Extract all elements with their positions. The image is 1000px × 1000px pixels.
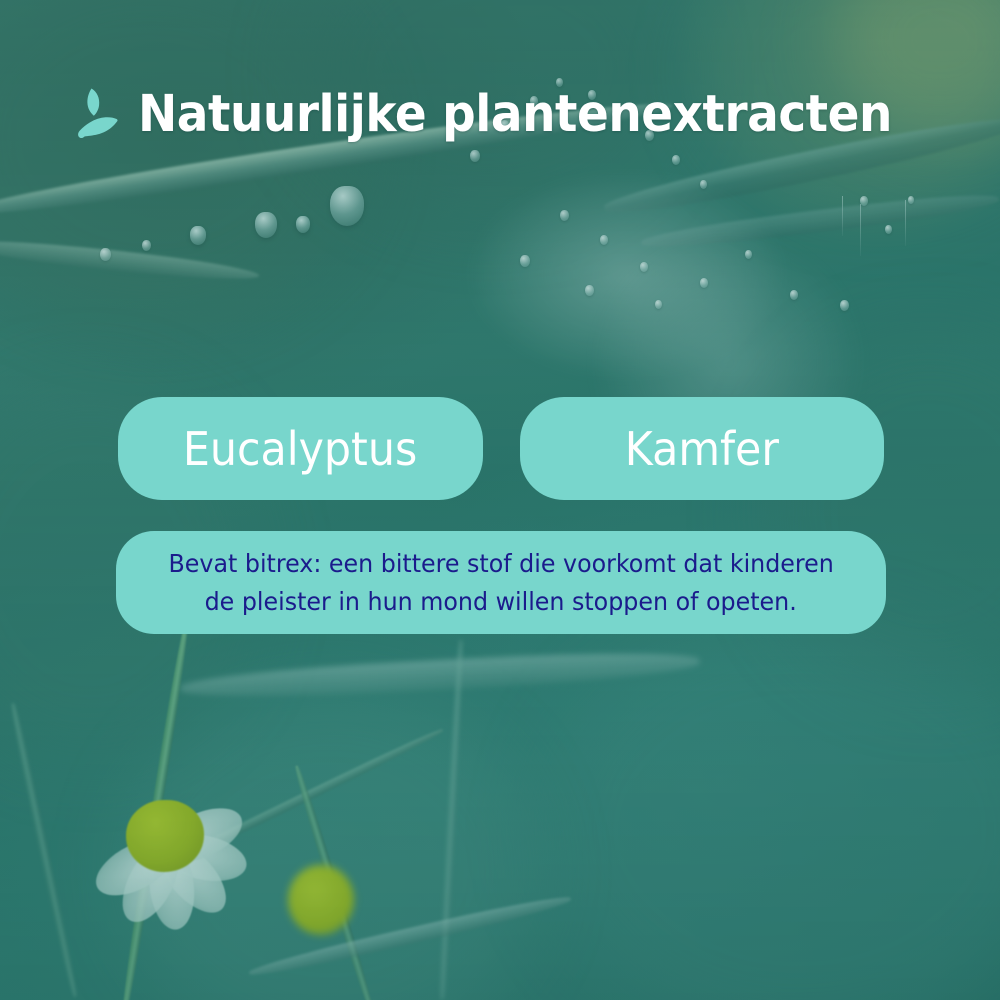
note-line-1: Bevat bitrex: een bittere stof die voork… (168, 545, 833, 583)
content-layer: Natuurlijke plantenextracten Eucalyptus … (0, 0, 1000, 1000)
promo-graphic: Natuurlijke plantenextracten Eucalyptus … (0, 0, 1000, 1000)
ingredient-pill-eucalyptus[interactable]: Eucalyptus (118, 397, 483, 500)
header: Natuurlijke plantenextracten (74, 86, 958, 144)
leaf-icon (74, 86, 120, 144)
ingredient-pill-label: Kamfer (625, 426, 779, 472)
note-line-2: de pleister in hun mond willen stoppen o… (205, 583, 797, 621)
page-title: Natuurlijke plantenextracten (138, 89, 892, 141)
bitrex-note-box: Bevat bitrex: een bittere stof die voork… (116, 531, 886, 634)
ingredient-pill-label: Eucalyptus (183, 426, 417, 472)
ingredient-pill-kamfer[interactable]: Kamfer (520, 397, 885, 500)
ingredient-pill-row: Eucalyptus Kamfer (118, 397, 884, 500)
